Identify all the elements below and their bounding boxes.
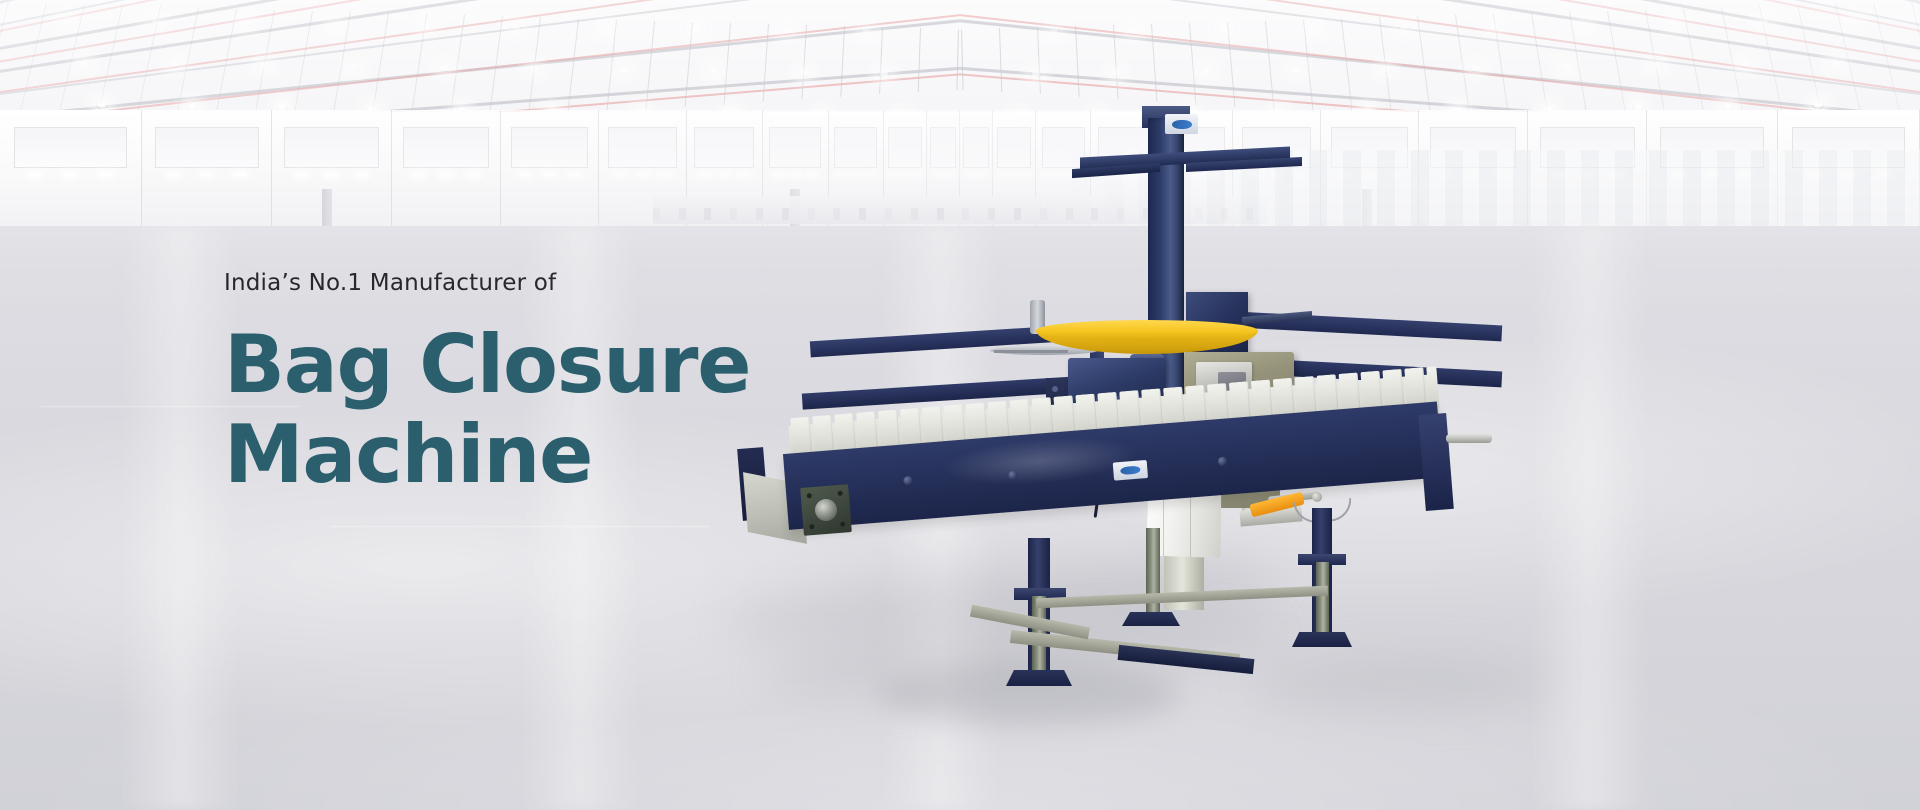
ceiling-light xyxy=(1128,28,1140,35)
wall-panel xyxy=(155,127,259,168)
wall-panel xyxy=(694,127,754,168)
conveyor-logo-plate xyxy=(1113,460,1148,481)
bay-lights xyxy=(835,172,876,177)
ceiling-light xyxy=(348,64,360,71)
leg-foot-plate xyxy=(1122,612,1180,626)
far-wall-unit xyxy=(937,208,944,220)
turntable-platform xyxy=(1036,320,1258,341)
hero-eyebrow: India’s No.1 Manufacturer of xyxy=(224,270,750,296)
ceiling-light xyxy=(438,65,450,72)
machine-shadow xyxy=(1250,656,1550,710)
ceiling-light xyxy=(1830,60,1842,67)
pillow-block-bearing xyxy=(800,484,852,536)
wall-bay xyxy=(272,110,392,230)
far-wall-unit xyxy=(833,208,840,220)
far-wall-unit xyxy=(782,208,789,220)
far-wall-unit xyxy=(756,208,763,220)
far-wall-unit xyxy=(885,208,892,220)
ceiling-light xyxy=(1560,64,1572,71)
truss-brace xyxy=(1227,22,1236,107)
far-wall-unit xyxy=(859,208,866,220)
ceiling-light xyxy=(1398,24,1410,31)
brand-mark-icon xyxy=(1120,465,1141,475)
wall-panel xyxy=(14,127,126,168)
ceiling-light xyxy=(258,62,270,69)
bay-lights xyxy=(157,172,256,177)
bay-lights xyxy=(610,172,676,177)
ceiling-light xyxy=(1048,29,1060,36)
ceiling-pipe xyxy=(0,8,960,126)
wall-panel xyxy=(769,127,821,168)
truss-brace xyxy=(606,20,617,112)
truss-brace xyxy=(918,28,922,92)
far-wall-unit xyxy=(730,208,737,220)
ceiling-light xyxy=(1030,71,1042,78)
wall-bay xyxy=(501,110,599,230)
ceiling-light xyxy=(78,60,90,67)
leg-foot-plate xyxy=(1292,632,1352,647)
ceiling-light xyxy=(690,26,702,33)
ceiling-light xyxy=(330,22,342,29)
truss-brace xyxy=(956,29,959,89)
wall-panel xyxy=(403,127,489,168)
far-wall-unit xyxy=(808,208,815,220)
leg-foot-plate xyxy=(1006,670,1072,686)
ceiling-light xyxy=(1200,68,1212,75)
truss-brace xyxy=(879,27,883,94)
far-wall-unit xyxy=(704,208,711,220)
wall-panel xyxy=(284,127,379,168)
support-leg-rear xyxy=(1146,528,1160,620)
far-wall-unit xyxy=(911,208,918,220)
truss-brace xyxy=(685,22,694,107)
headline-line-2: Machine xyxy=(224,410,750,500)
ceiling-light xyxy=(878,71,890,78)
leg-adjuster xyxy=(1316,562,1329,638)
ceiling-light xyxy=(1290,67,1302,74)
floor-scuff xyxy=(330,526,710,527)
brand-mark-icon xyxy=(1172,120,1192,129)
ceiling-light xyxy=(618,67,630,74)
ceiling-light xyxy=(60,18,72,25)
hero-copy: India’s No.1 Manufacturer of Bag Closure… xyxy=(224,270,750,499)
ceiling-light xyxy=(96,102,108,109)
truss-brace xyxy=(1037,27,1041,94)
wall-panel xyxy=(511,127,589,168)
ceiling-light xyxy=(1848,18,1860,25)
truss-brace xyxy=(645,21,655,110)
bay-lights xyxy=(889,172,921,177)
bay-lights xyxy=(771,172,820,177)
ceiling-light xyxy=(798,70,810,77)
ceiling-light xyxy=(150,19,162,26)
conveyor-drive-shaft xyxy=(1446,434,1492,443)
conveyor-tail-frame xyxy=(1418,413,1454,511)
bay-lights xyxy=(405,172,487,177)
hero-headline: Bag Closure Machine xyxy=(224,320,750,499)
far-wall-unit xyxy=(653,208,660,220)
wall-bay xyxy=(392,110,501,230)
wall-panel xyxy=(834,127,877,168)
truss-brace xyxy=(567,18,579,114)
bay-lights xyxy=(696,172,753,177)
truss-brace xyxy=(961,29,964,89)
ceiling-light xyxy=(860,29,872,36)
truss-brace xyxy=(999,28,1003,92)
roof-beam xyxy=(960,0,1920,34)
wall-bay xyxy=(142,110,273,230)
truss-brace xyxy=(840,26,845,97)
bay-lights xyxy=(17,172,124,177)
bag-closure-machine xyxy=(950,96,1740,776)
wall-bay xyxy=(0,110,142,230)
ceiling-light xyxy=(1470,65,1482,72)
ceiling-light xyxy=(1578,22,1590,29)
bay-lights xyxy=(287,172,377,177)
ceiling-light xyxy=(1308,25,1320,32)
hero-banner: India’s No.1 Manufacturer of Bag Closure… xyxy=(0,0,1920,810)
ceiling-light xyxy=(528,66,540,73)
wall-panel xyxy=(888,127,922,168)
headline-line-1: Bag Closure xyxy=(224,318,750,411)
wall-panel xyxy=(608,127,677,168)
bay-lights xyxy=(513,172,587,177)
ceiling-light xyxy=(510,24,522,31)
floor-reflection xyxy=(120,226,240,810)
ceiling-light xyxy=(1380,66,1392,73)
brand-logo-plate xyxy=(1165,114,1198,134)
roof-beam xyxy=(0,0,960,34)
ceiling-light xyxy=(420,23,432,30)
ceiling-light xyxy=(708,68,720,75)
ceiling-light xyxy=(600,25,612,32)
wall-doorway xyxy=(322,189,332,230)
ceiling-light xyxy=(240,20,252,27)
ceiling-light xyxy=(1758,19,1770,26)
ceiling-light xyxy=(1110,70,1122,77)
ceiling-light xyxy=(780,28,792,35)
ceiling-light xyxy=(1812,102,1824,109)
ceiling-light xyxy=(1668,20,1680,27)
far-wall-unit xyxy=(679,208,686,220)
thread-guide-rod xyxy=(994,350,1068,353)
ceiling-light xyxy=(1488,23,1500,30)
truss-brace xyxy=(1075,26,1080,97)
ceiling-light xyxy=(1650,62,1662,69)
